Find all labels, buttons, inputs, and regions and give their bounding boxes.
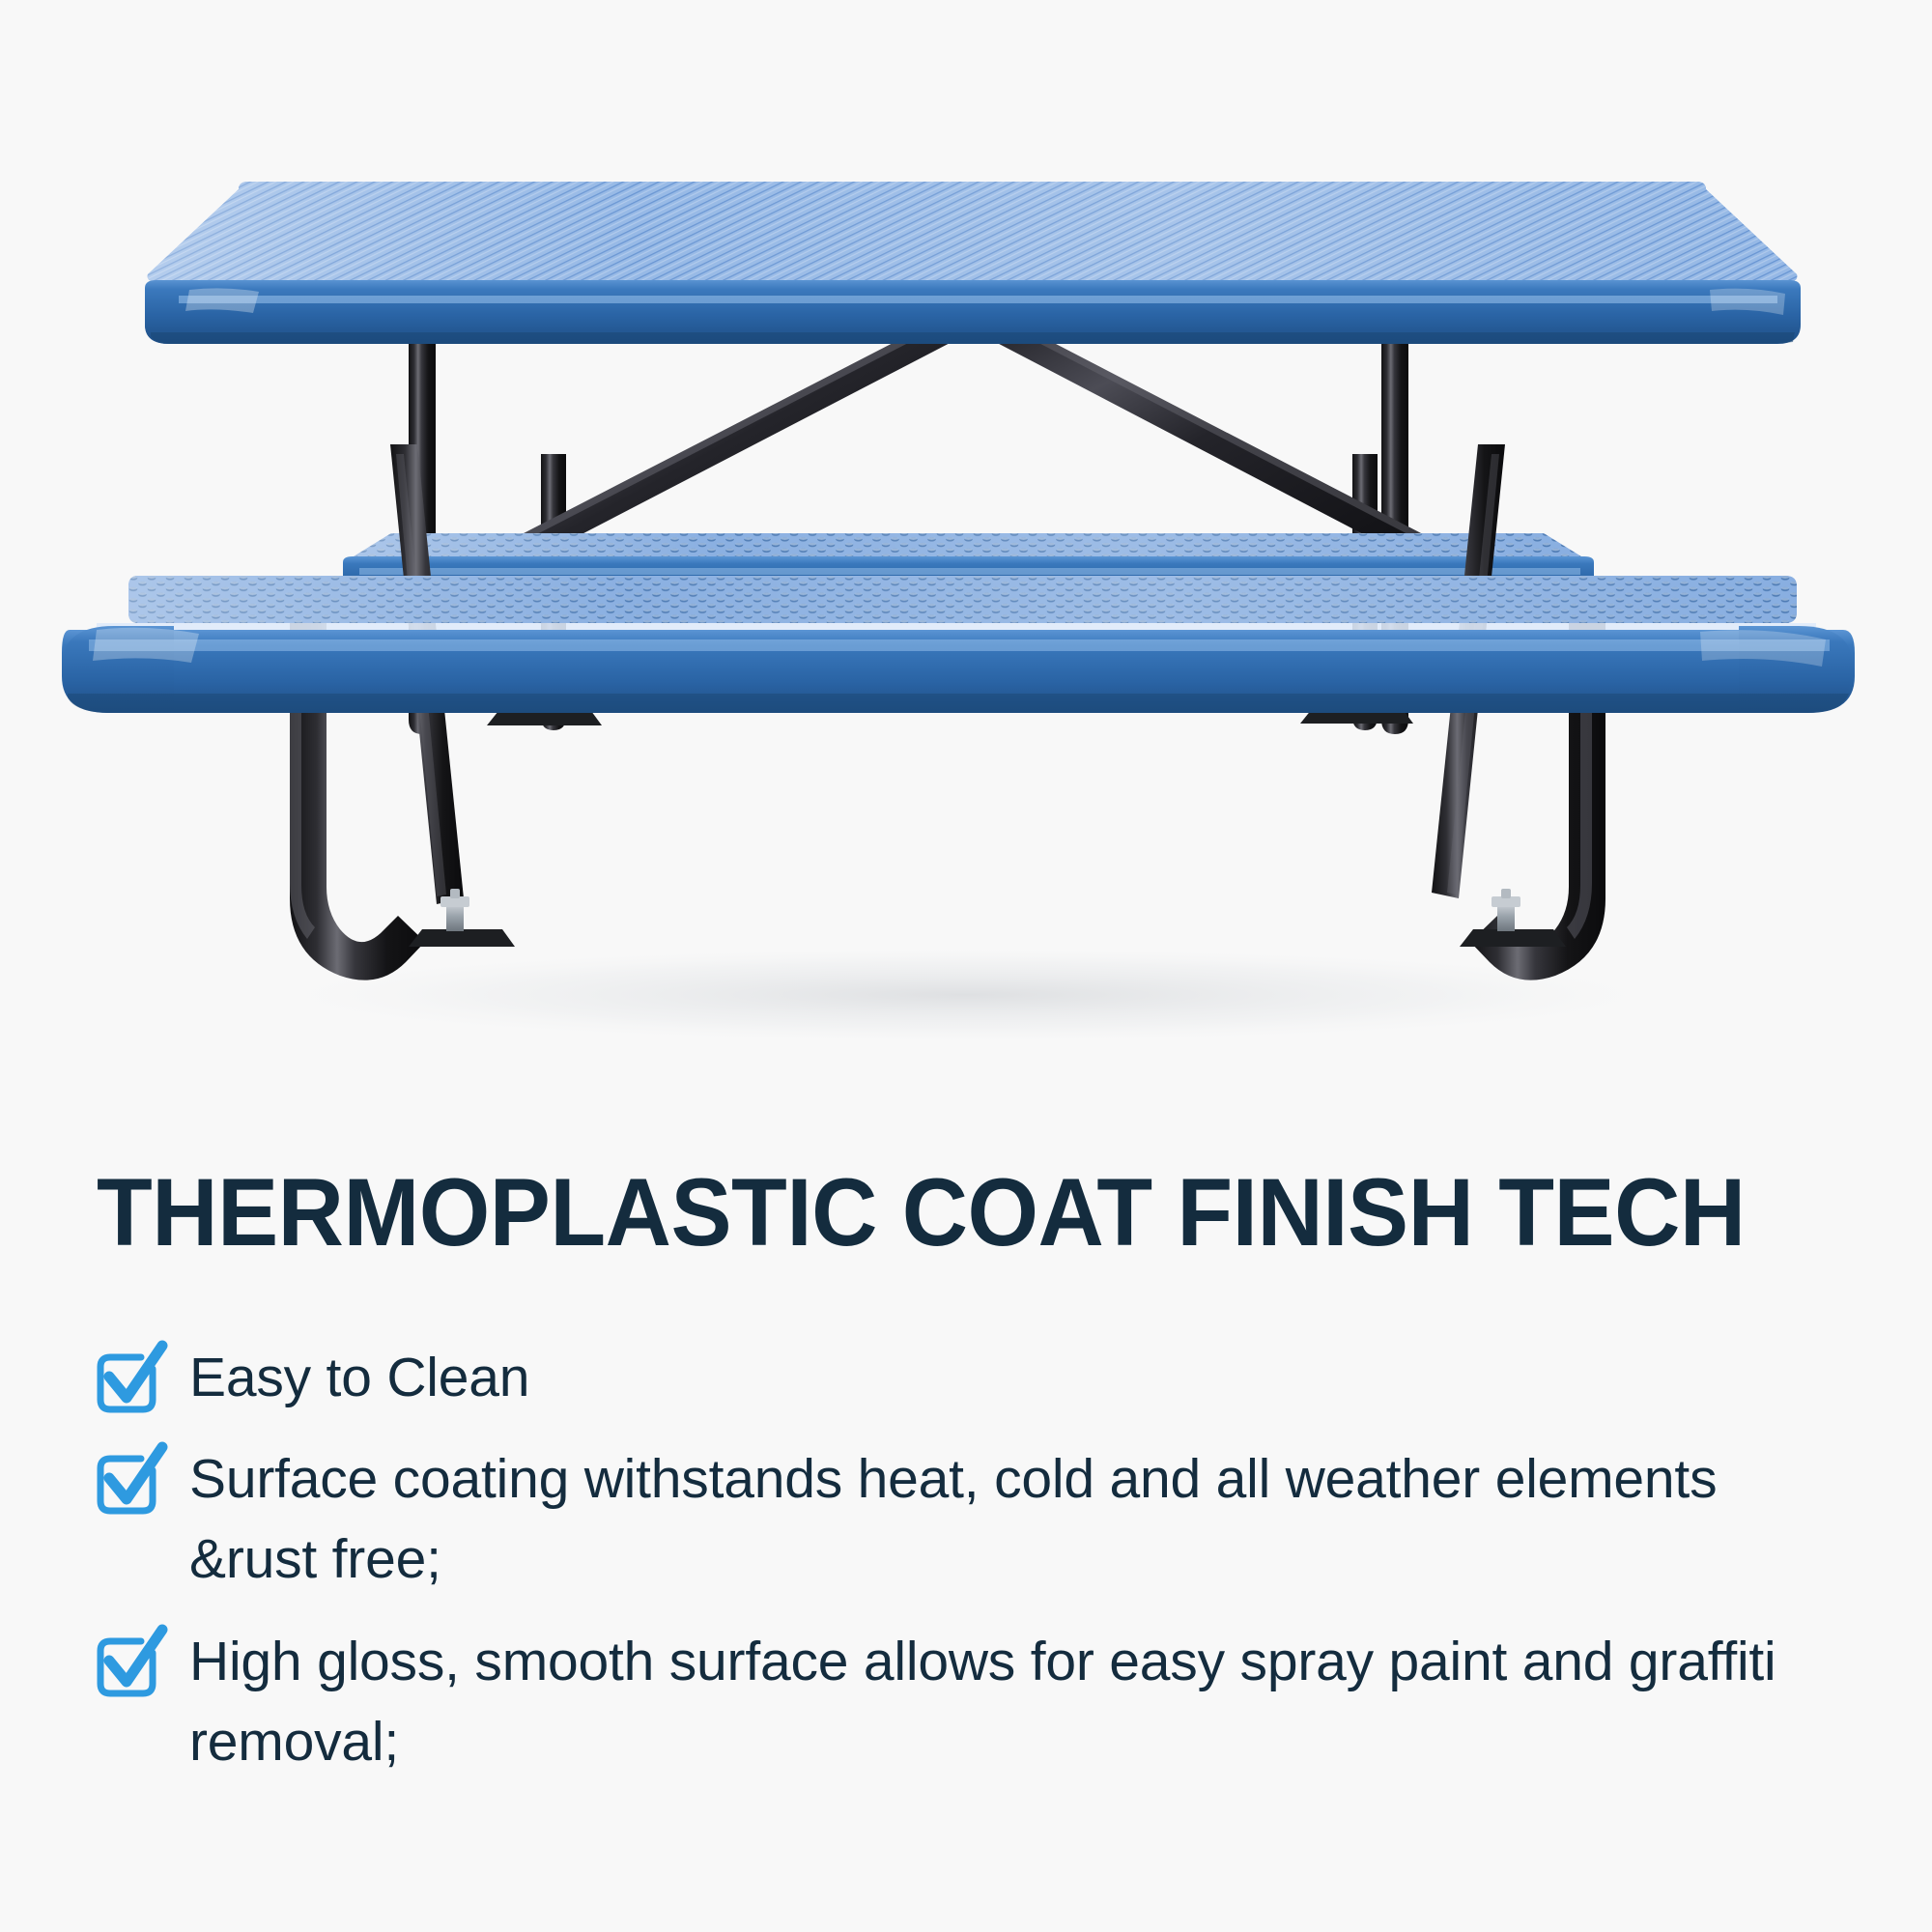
feature-list: Easy to Clean Surface coating withstands… <box>93 1338 1899 1804</box>
feature-text: Surface coating withstands heat, cold an… <box>189 1439 1822 1600</box>
front-bench-seat <box>62 568 1855 713</box>
list-item: Easy to Clean <box>93 1338 1899 1418</box>
list-item: Surface coating withstands heat, cold an… <box>93 1439 1899 1600</box>
page-title: THERMOPLASTIC COAT FINISH TECH <box>97 1164 1794 1260</box>
list-item: High gloss, smooth surface allows for ea… <box>93 1622 1899 1782</box>
feature-text: Easy to Clean <box>189 1338 529 1418</box>
marketing-copy: THERMOPLASTIC COAT FINISH TECH Easy to C… <box>0 1121 1932 1932</box>
tabletop <box>135 174 1816 344</box>
ground-shadow <box>232 945 1700 1045</box>
checkbox-checked-icon <box>93 1344 164 1415</box>
checkbox-checked-icon <box>93 1445 164 1517</box>
product-image <box>0 0 1932 1121</box>
anchor-foot-bracket-front-right <box>1460 889 1566 947</box>
feature-text: High gloss, smooth surface allows for ea… <box>189 1622 1822 1782</box>
anchor-foot-bracket-front-left <box>409 889 515 947</box>
checkbox-checked-icon <box>93 1628 164 1699</box>
banner-root: THERMOPLASTIC COAT FINISH TECH Easy to C… <box>0 0 1932 1932</box>
picnic-table-illustration <box>0 0 1932 1121</box>
